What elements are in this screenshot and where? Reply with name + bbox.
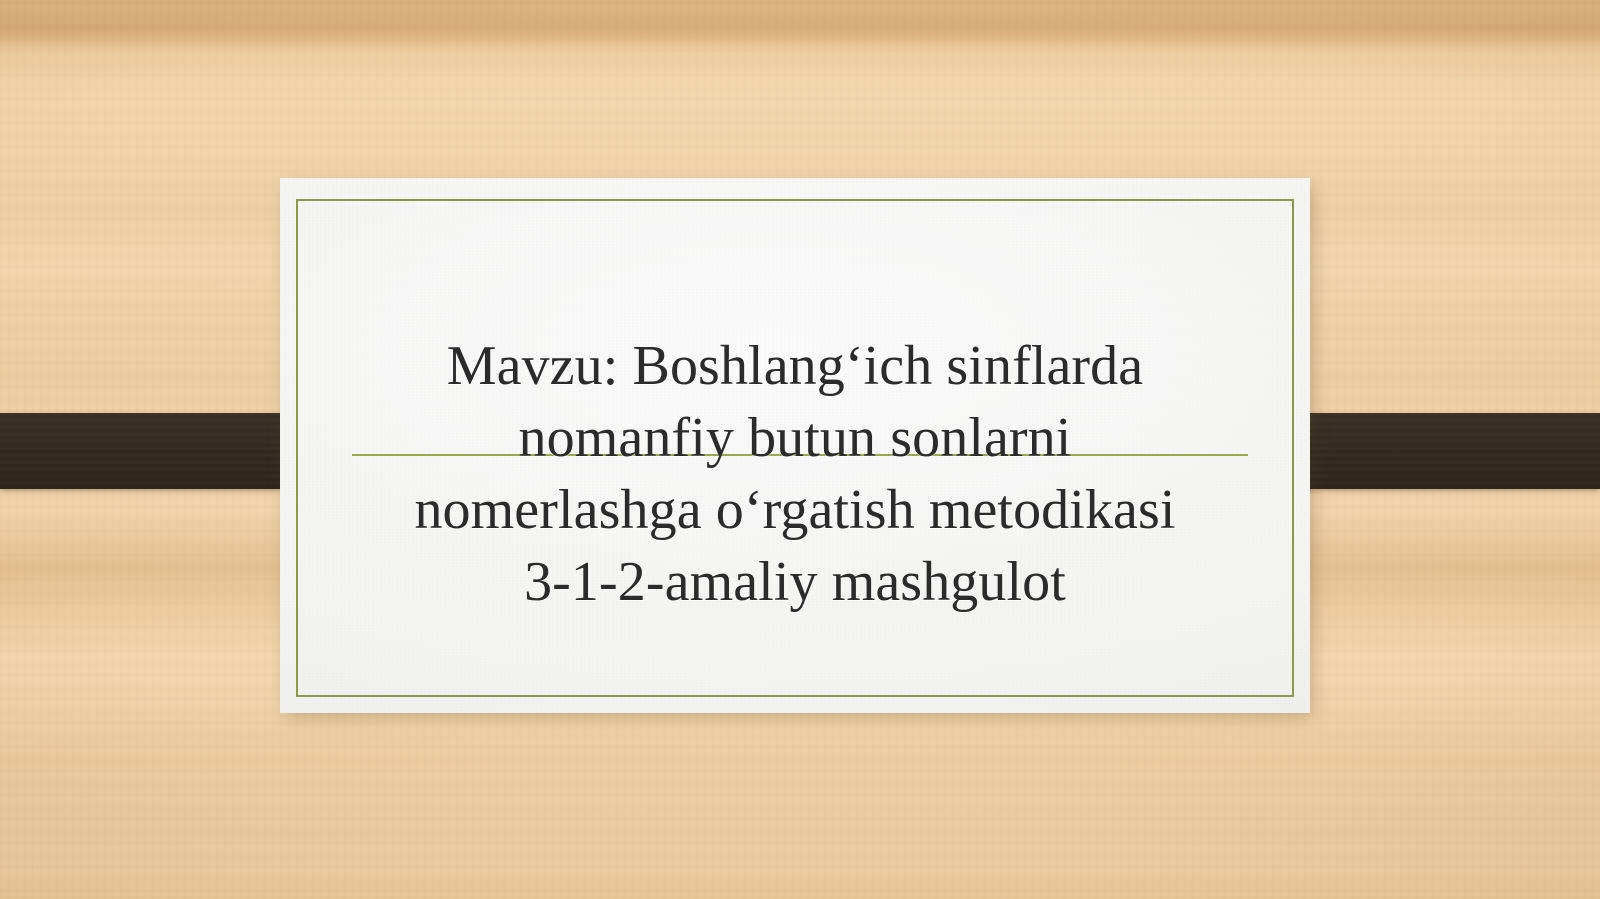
ribbon-bar-left (0, 413, 322, 489)
subtitle-line: 3-1-2-amaliy mashgulot (300, 546, 1290, 618)
title-line-1: Mavzu: Boshlangʻich sinflarda (300, 330, 1290, 402)
slide-root: Mavzu: Boshlangʻich sinflarda nomanfiy b… (0, 0, 1600, 899)
title-text-block: Mavzu: Boshlangʻich sinflarda nomanfiy b… (300, 330, 1290, 618)
title-line-2: nomanfiy butun sonlarni (300, 402, 1290, 474)
title-line-3: nomerlashga oʻrgatish metodikasi (300, 474, 1290, 546)
ribbon-bar-right (1278, 413, 1600, 489)
